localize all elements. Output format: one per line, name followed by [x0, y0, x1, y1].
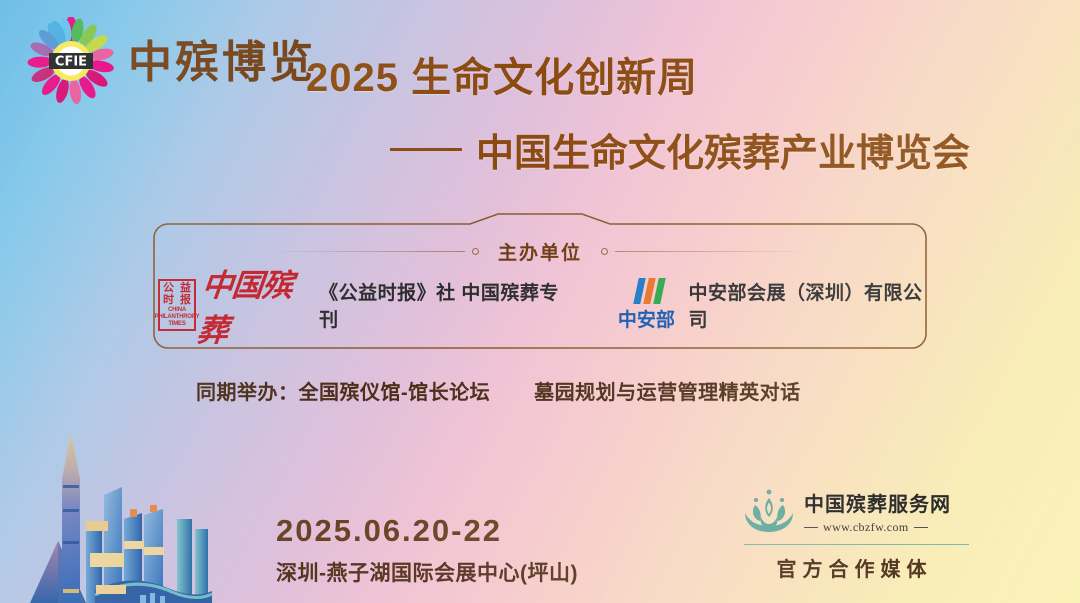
brand-wordmark-text: 中殡博览	[128, 37, 316, 88]
cpt-cn-3: 时	[160, 294, 177, 306]
media-partner-block: 中国殡葬服务网 www.cbzfw.com 官方合作媒体	[742, 487, 972, 582]
cpt-en-1: CHINA	[168, 307, 186, 313]
heading-dot-left-icon	[472, 248, 479, 255]
page-subtitle-text: 中国生命文化殡葬产业博览会	[476, 122, 970, 177]
media-partner-name: 中国殡葬服务网	[804, 488, 951, 517]
cpt-calligraphy: 中国殡葬	[195, 260, 316, 350]
url-dash-left-icon	[804, 527, 818, 528]
brand-wordmark: 中殡博览	[128, 26, 316, 90]
lotus-icon	[742, 487, 796, 535]
url-dash-right-icon	[914, 527, 928, 528]
china-philanthropy-times-logo: 公 益 时 报 CHINA PHILANTHROPY TIMES 中国殡葬	[158, 260, 311, 350]
concurrent-events: 同期举办：全国殡仪馆-馆长论坛 墓园规划与运营管理精英对话	[196, 376, 801, 405]
shenzhen-skyline-illustration	[0, 413, 260, 603]
media-partner-label: 官方合作媒体	[742, 553, 967, 582]
organizers-list: 公 益 时 报 CHINA PHILANTHROPY TIMES 中国殡葬 《公…	[158, 275, 928, 335]
event-date: 2025.06.20-22	[276, 513, 502, 549]
cpt-cn-4: 报	[177, 294, 194, 306]
heading-rule-left	[265, 251, 465, 252]
media-partner-header: 中国殡葬服务网 www.cbzfw.com	[742, 487, 972, 535]
media-partner-text: 中国殡葬服务网 www.cbzfw.com	[804, 488, 951, 535]
organizer-name: 中安部会展（深圳）有限公司	[689, 278, 929, 332]
cpt-logo-box: 公 益 时 报 CHINA PHILANTHROPY TIMES	[158, 279, 196, 331]
heading-dot-right-icon	[601, 248, 608, 255]
concurrent-prefix: 同期举办：	[196, 382, 299, 404]
media-partner-divider	[744, 544, 969, 545]
organizer-item: 中安部 中安部会展（深圳）有限公司	[614, 278, 928, 332]
page-subtitle: 中国生命文化殡葬产业博览会	[390, 122, 970, 177]
organizer-name: 《公益时报》社 中国殡葬专刊	[319, 278, 564, 332]
poster-canvas: CFIE 中殡博览 2025 生命文化创新周 中国生命文化殡葬产业博览会 主办单…	[0, 0, 1080, 603]
zab-bars-icon	[636, 278, 663, 304]
concurrent-event-1: 全国殡仪馆-馆长论坛	[299, 382, 491, 404]
cpt-logo-cn: 公 益 时 报	[160, 282, 194, 306]
event-venue: 深圳-燕子湖国际会展中心(坪山)	[276, 557, 578, 587]
cfie-acronym: CFIE	[55, 55, 87, 70]
concurrent-event-2: 墓园规划与运营管理精英对话	[534, 376, 801, 405]
cfie-flower-icon: CFIE	[22, 17, 120, 105]
zab-wordmark: 中安部	[618, 305, 675, 332]
organizer-item: 公 益 时 报 CHINA PHILANTHROPY TIMES 中国殡葬 《公…	[158, 260, 564, 350]
concurrent-events-line-1: 同期举办：全国殡仪馆-馆长论坛	[196, 376, 490, 405]
media-partner-url-row[interactable]: www.cbzfw.com	[804, 520, 951, 535]
zhongandbu-logo: 中安部	[614, 278, 678, 332]
heading-rule-right	[615, 251, 815, 252]
cpt-en-3: TIMES	[168, 321, 185, 327]
cpt-en-2: PHILANTHROPY	[155, 314, 200, 320]
page-title: 2025 生命文化创新周	[306, 45, 698, 103]
subtitle-dash-icon	[390, 148, 462, 151]
media-partner-url[interactable]: www.cbzfw.com	[823, 520, 909, 535]
